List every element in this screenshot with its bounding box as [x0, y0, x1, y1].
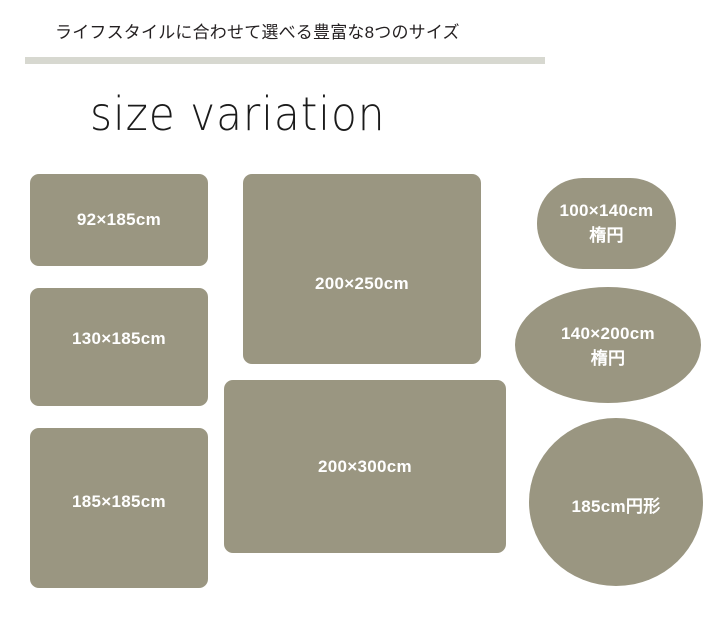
size-label: 140×200cm 楕円: [561, 321, 655, 371]
size-swatch-140x200-oval: 140×200cm 楕円: [515, 287, 701, 403]
size-label: 185×185cm: [72, 489, 166, 514]
size-label: 130×185cm: [72, 326, 166, 351]
page-title: size variation: [90, 88, 386, 140]
size-swatch-130x185: 130×185cm: [30, 288, 208, 406]
header-tagline: ライフスタイルに合わせて選べる豊富な8つのサイズ: [55, 22, 460, 44]
size-label: 100×140cm 楕円: [560, 198, 654, 248]
size-label: 92×185cm: [77, 207, 161, 232]
size-swatch-92x185: 92×185cm: [30, 174, 208, 266]
size-label: 200×250cm: [315, 271, 409, 296]
size-swatch-200x300: 200×300cm: [224, 380, 506, 553]
size-swatch-185x185: 185×185cm: [30, 428, 208, 588]
size-swatch-100x140-oval: 100×140cm 楕円: [537, 178, 676, 269]
size-variation-page: ライフスタイルに合わせて選べる豊富な8つのサイズ size variation …: [0, 0, 720, 629]
size-swatch-185-circle: 185cm円形: [529, 418, 703, 586]
size-swatch-200x250: 200×250cm: [243, 174, 481, 364]
header-divider: [25, 57, 545, 64]
size-label: 200×300cm: [318, 454, 412, 479]
size-label: 185cm円形: [571, 494, 660, 519]
